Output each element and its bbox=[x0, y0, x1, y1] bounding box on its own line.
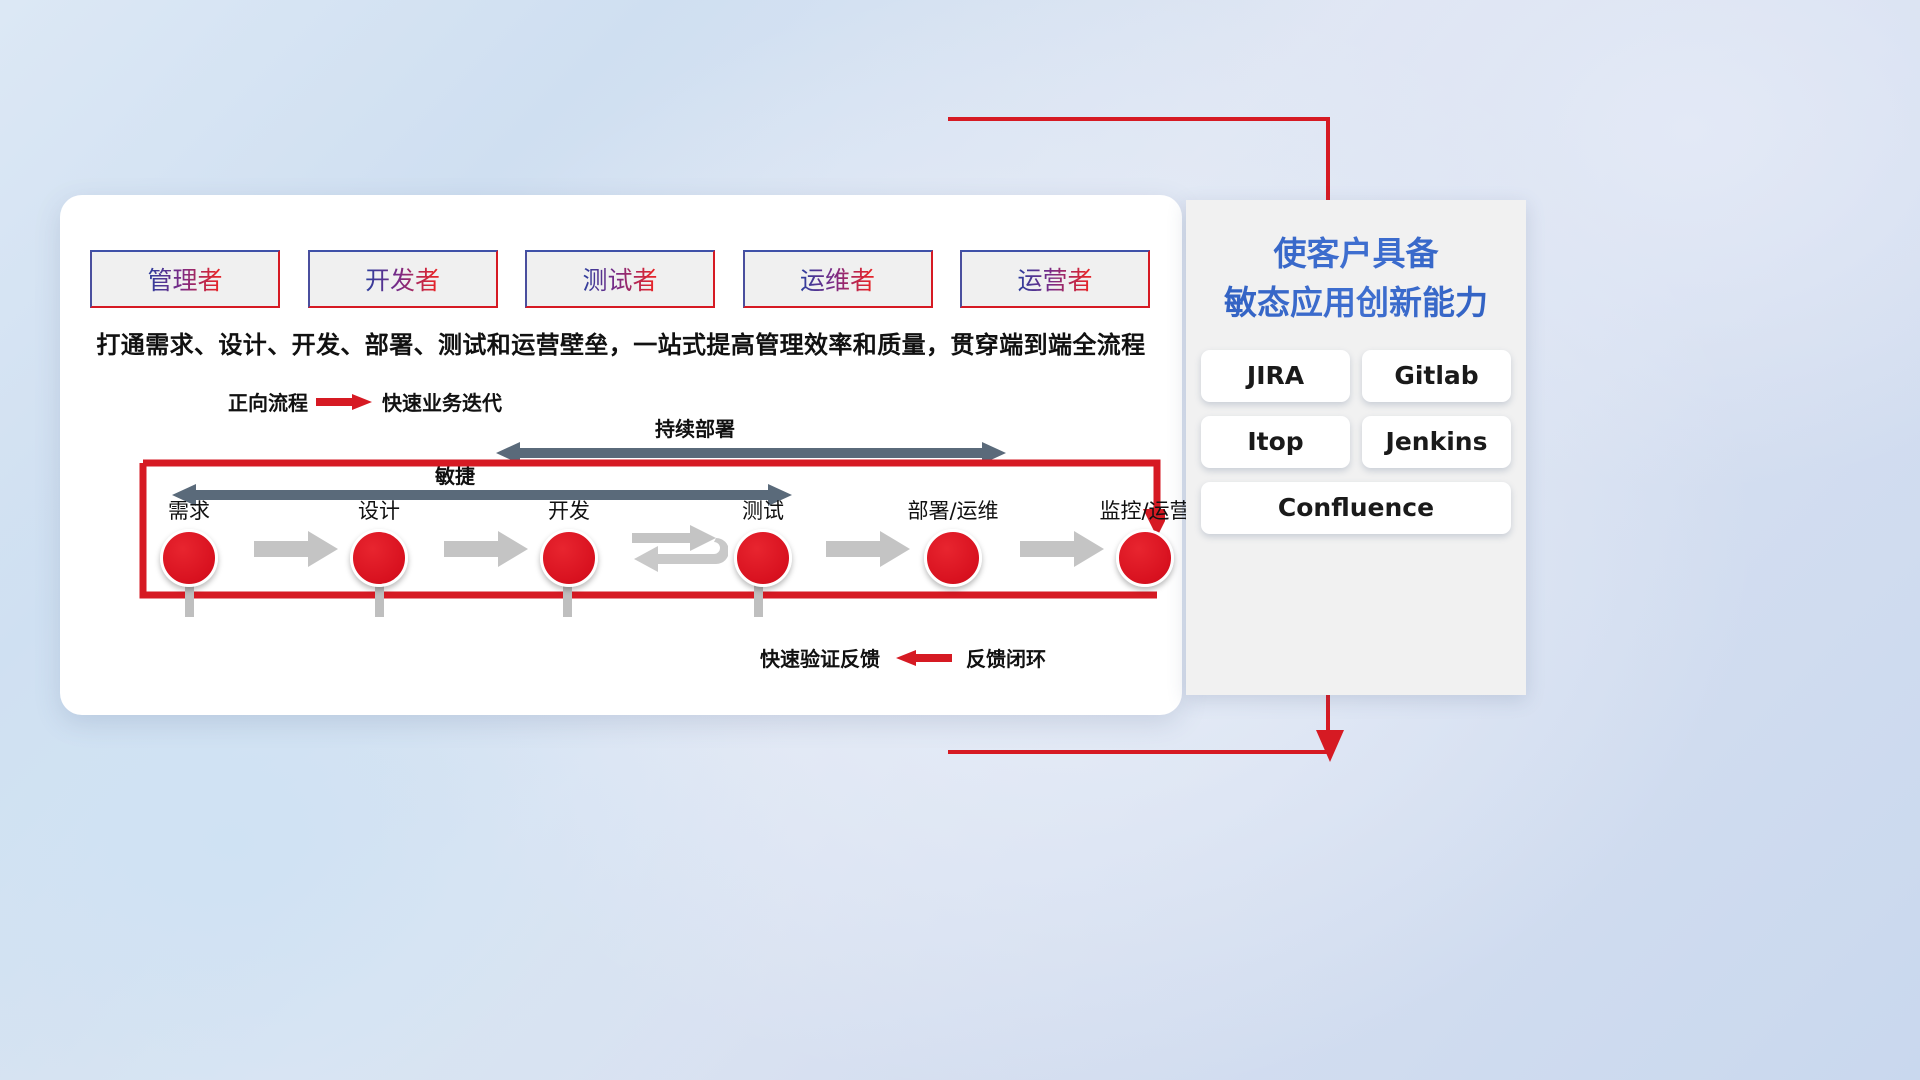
role-box-row: 管理者 开发者 测试者 运维者 运营者 bbox=[90, 250, 1150, 308]
tool-label: JIRA bbox=[1247, 361, 1304, 390]
pipeline-stage-monitor-operations[interactable]: 监控/运营 bbox=[1090, 495, 1200, 587]
forward-flow-legend: 正向流程 快速业务迭代 bbox=[228, 387, 502, 416]
role-label: 运维者 bbox=[800, 261, 875, 297]
feedback-result-label: 快速验证反馈 bbox=[760, 643, 880, 672]
stage-label: 设计 bbox=[324, 495, 434, 525]
role-box-tester[interactable]: 测试者 bbox=[525, 250, 715, 308]
role-box-ops[interactable]: 运维者 bbox=[743, 250, 933, 308]
pipeline-stage-deploy-ops[interactable]: 部署/运维 bbox=[898, 495, 1008, 587]
role-label: 运营者 bbox=[1017, 261, 1092, 297]
tool-list: JIRA Gitlab Itop Jenkins Confluence bbox=[1194, 350, 1518, 534]
forward-flow-result: 快速业务迭代 bbox=[382, 387, 502, 416]
pipeline-stage-development[interactable]: 开发 bbox=[514, 495, 624, 587]
tool-jira[interactable]: JIRA bbox=[1201, 350, 1350, 402]
pipeline-row: 需求 设计 开发 测试 部署/运维 bbox=[96, 495, 1156, 605]
stage-label: 部署/运维 bbox=[898, 495, 1008, 525]
tool-label: Itop bbox=[1247, 427, 1303, 456]
tool-gitlab[interactable]: Gitlab bbox=[1362, 350, 1511, 402]
role-box-operator[interactable]: 运营者 bbox=[960, 250, 1150, 308]
stage-dot bbox=[350, 529, 408, 587]
stage-label: 开发 bbox=[514, 495, 624, 525]
role-box-manager[interactable]: 管理者 bbox=[90, 250, 280, 308]
tool-jenkins[interactable]: Jenkins bbox=[1362, 416, 1511, 468]
tool-confluence[interactable]: Confluence bbox=[1201, 482, 1511, 534]
feedback-legend: 快速验证反馈 反馈闭环 bbox=[760, 643, 1046, 672]
stage-dot bbox=[160, 529, 218, 587]
panel-title: 使客户具备 敏态应用创新能力 bbox=[1186, 230, 1526, 328]
continuous-deployment-label: 持续部署 bbox=[655, 413, 735, 442]
description-text: 打通需求、设计、开发、部署、测试和运营壁垒，一站式提高管理效率和质量，贯穿端到端… bbox=[60, 325, 1182, 360]
pipeline-stage-requirement[interactable]: 需求 bbox=[134, 495, 244, 587]
pipeline-stage-design[interactable]: 设计 bbox=[324, 495, 434, 587]
stage-dot bbox=[540, 529, 598, 587]
forward-flow-label: 正向流程 bbox=[228, 387, 308, 416]
pipeline-stage-testing[interactable]: 测试 bbox=[708, 495, 818, 587]
stage-dot bbox=[1116, 529, 1174, 587]
feedback-source-label: 反馈闭环 bbox=[966, 643, 1046, 672]
right-arrow-icon bbox=[316, 393, 374, 411]
role-label: 管理者 bbox=[147, 261, 222, 297]
tool-label: Gitlab bbox=[1394, 361, 1478, 390]
tool-label: Confluence bbox=[1278, 493, 1434, 522]
stage-label: 需求 bbox=[134, 495, 244, 525]
role-label: 开发者 bbox=[365, 261, 440, 297]
role-label: 测试者 bbox=[582, 261, 657, 297]
stage-label: 监控/运营 bbox=[1090, 495, 1200, 525]
main-diagram-card: 管理者 开发者 测试者 运维者 运营者 打通需求、设计、开发、部署、测试和运营壁… bbox=[60, 195, 1182, 715]
stage-dot bbox=[924, 529, 982, 587]
capability-panel: 使客户具备 敏态应用创新能力 JIRA Gitlab Itop Jenkins … bbox=[1186, 200, 1526, 695]
panel-title-line2: 敏态应用创新能力 bbox=[1186, 279, 1526, 328]
panel-title-line1: 使客户具备 bbox=[1186, 230, 1526, 279]
stage-label: 测试 bbox=[708, 495, 818, 525]
connector-down-arrow-icon bbox=[1300, 700, 1360, 770]
left-arrow-icon bbox=[894, 649, 952, 667]
role-box-developer[interactable]: 开发者 bbox=[308, 250, 498, 308]
stage-dot bbox=[734, 529, 792, 587]
tool-itop[interactable]: Itop bbox=[1201, 416, 1350, 468]
tool-label: Jenkins bbox=[1386, 427, 1488, 456]
